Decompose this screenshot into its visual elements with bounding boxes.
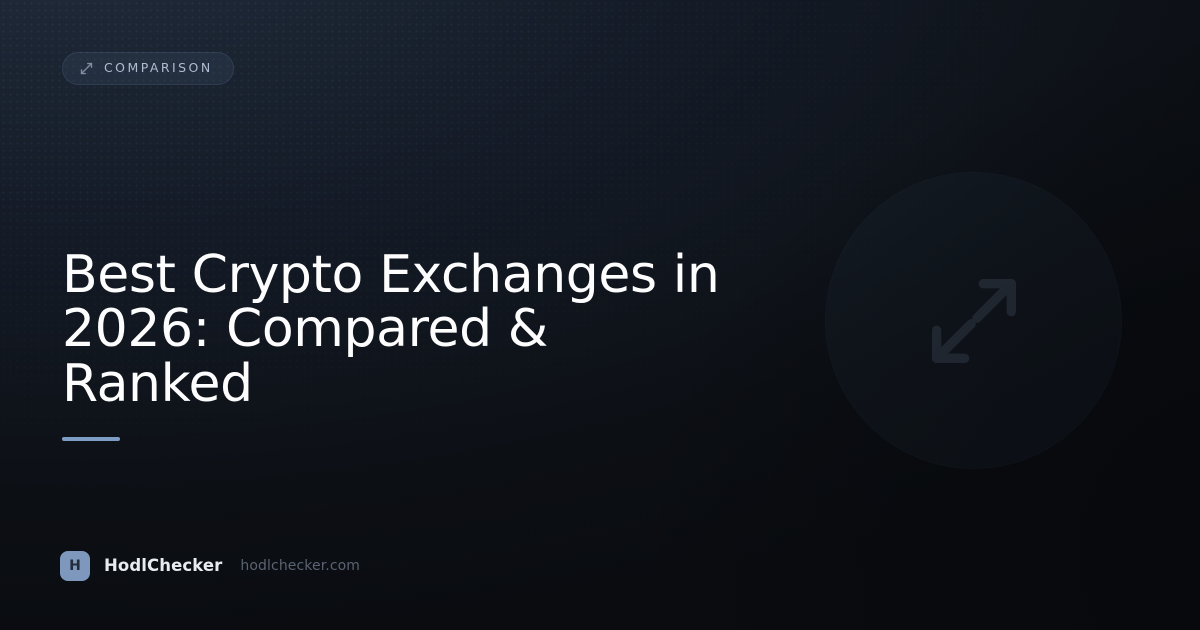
decorative-circle	[825, 172, 1122, 469]
brand-logo-mark: H	[60, 551, 90, 581]
headline-block: Best Crypto Exchanges in 2026: Compared …	[62, 248, 722, 441]
category-badge-label: COMPARISON	[104, 62, 213, 75]
page-title: Best Crypto Exchanges in 2026: Compared …	[62, 248, 722, 411]
expand-arrows-icon	[918, 265, 1030, 377]
accent-underline	[62, 437, 120, 441]
og-card: COMPARISON Best Crypto Exchanges in 2026…	[0, 0, 1200, 630]
brand-footer: H HodlChecker hodlchecker.com	[60, 551, 360, 581]
category-badge: COMPARISON	[62, 52, 234, 85]
expand-arrows-icon	[79, 61, 94, 76]
brand-name: HodlChecker	[104, 558, 222, 575]
brand-domain: hodlchecker.com	[240, 559, 360, 573]
